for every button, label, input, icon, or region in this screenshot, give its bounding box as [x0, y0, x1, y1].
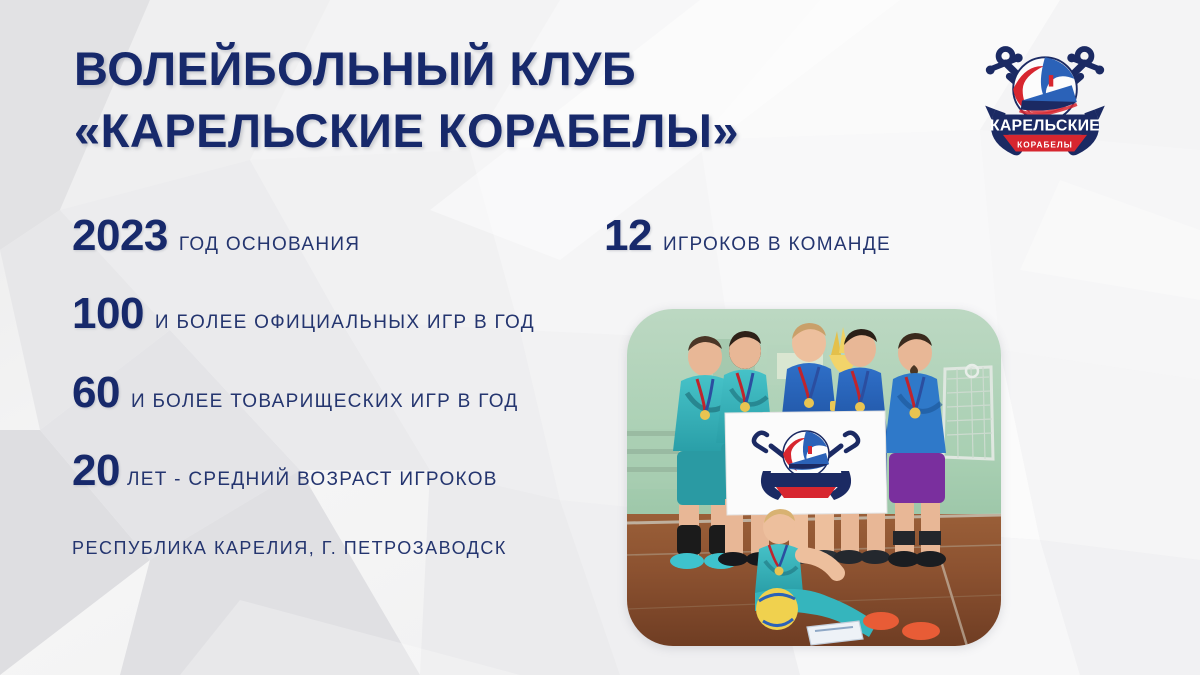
- stat-founded-number: 2023: [72, 212, 168, 260]
- stat-friendly-games: 60 И БОЛЕЕ ТОВАРИЩЕСКИХ ИГР В ГОД: [72, 369, 632, 417]
- club-logo-emblem: КАРЕЛЬСКИЕ КОРАБЕЛЫ: [975, 28, 1115, 168]
- stat-average-age-number: 20: [72, 447, 120, 495]
- stat-official-games: 100 И БОЛЕЕ ОФИЦИАЛЬНЫХ ИГР В ГОД: [72, 290, 632, 338]
- stat-friendly-games-label: И БОЛЕЕ ТОВАРИЩЕСКИХ ИГР В ГОД: [131, 392, 519, 413]
- stat-friendly-games-number: 60: [72, 369, 120, 417]
- stat-official-games-number: 100: [72, 290, 144, 338]
- stat-average-age: 20 ЛЕТ - СРЕДНИЙ ВОЗРАСТ ИГРОКОВ: [72, 447, 632, 495]
- logo-banner-secondary: КОРАБЕЛЫ: [1017, 141, 1073, 150]
- team-photo-illustration: [627, 309, 1001, 646]
- stats-left-column: 2023 ГОД ОСНОВАНИЯ 100 И БОЛЕЕ ОФИЦИАЛЬН…: [72, 212, 632, 496]
- stat-average-age-label: ЛЕТ - СРЕДНИЙ ВОЗРАСТ ИГРОКОВ: [127, 470, 498, 491]
- title-line-1: ВОЛЕЙБОЛЬНЫЙ КЛУБ: [74, 38, 774, 100]
- stat-official-games-label: И БОЛЕЕ ОФИЦИАЛЬНЫХ ИГР В ГОД: [155, 313, 535, 334]
- club-flag: [725, 411, 887, 515]
- logo-banner-primary: КАРЕЛЬСКИЕ: [990, 117, 1100, 134]
- page-title: ВОЛЕЙБОЛЬНЫЙ КЛУБ «КАРЕЛЬСКИЕ КОРАБЕЛЫ»: [74, 38, 774, 162]
- club-logo: КАРЕЛЬСКИЕ КОРАБЕЛЫ: [975, 28, 1115, 168]
- stats-right-column: 12 ИГРОКОВ В КОМАНДЕ: [604, 212, 1024, 260]
- stat-team-size-label: ИГРОКОВ В КОМАНДЕ: [663, 235, 891, 256]
- team-photo: [627, 309, 1001, 646]
- stat-team-size: 12 ИГРОКОВ В КОМАНДЕ: [604, 212, 1024, 260]
- location-text: РЕСПУБЛИКА КАРЕЛИЯ, Г. ПЕТРОЗАВОДСК: [72, 538, 507, 559]
- stat-founded-label: ГОД ОСНОВАНИЯ: [179, 235, 360, 256]
- stat-founded: 2023 ГОД ОСНОВАНИЯ: [72, 212, 632, 260]
- stat-team-size-number: 12: [604, 212, 652, 260]
- title-line-2: «КАРЕЛЬСКИЕ КОРАБЕЛЫ»: [74, 100, 774, 162]
- slide-root: ВОЛЕЙБОЛЬНЫЙ КЛУБ «КАРЕЛЬСКИЕ КОРАБЕЛЫ» …: [0, 0, 1200, 675]
